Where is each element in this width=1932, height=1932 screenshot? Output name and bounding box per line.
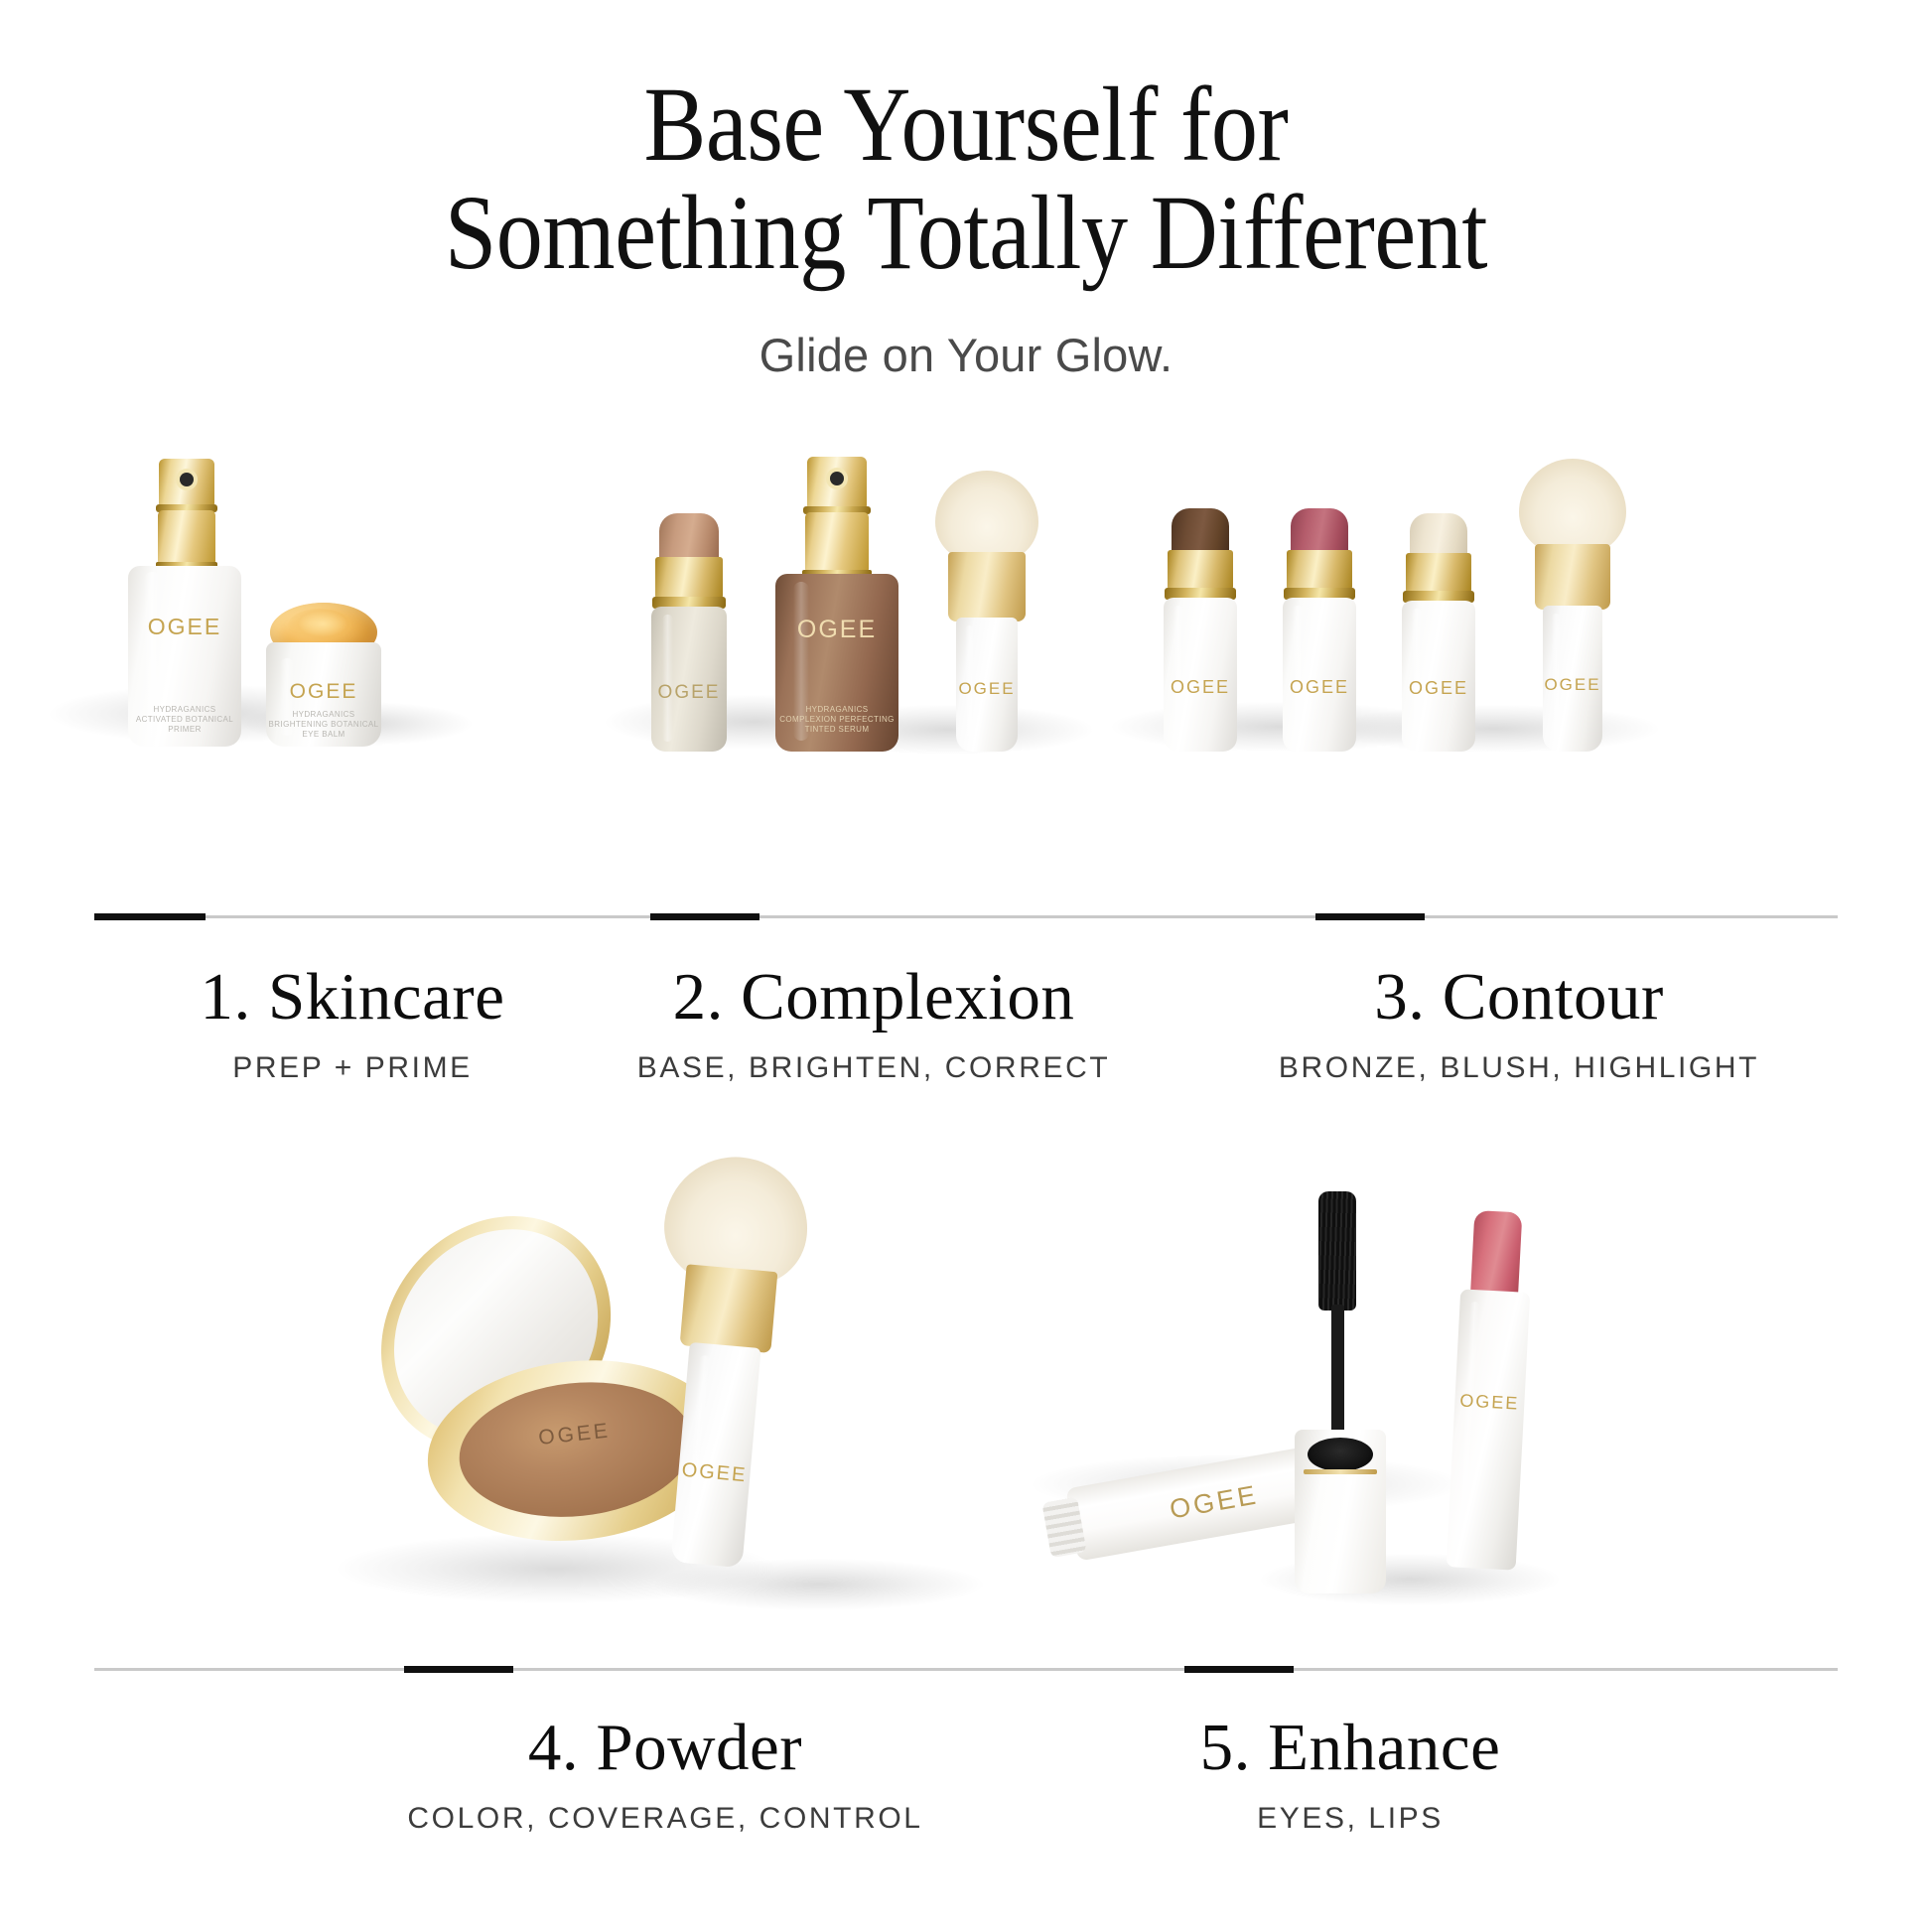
section-5-products: OGEE OGEE xyxy=(1072,1157,1628,1648)
brand-label: OGEE xyxy=(1454,1390,1525,1415)
product-fineprint: HYDRAGANICS COMPLEXION PERFECTING TINTED… xyxy=(775,705,898,735)
section-title-enhance: 5. Enhance xyxy=(1072,1710,1628,1786)
product-highlight-stick[interactable]: OGEE xyxy=(1388,513,1497,752)
rule-accent-section-5 xyxy=(1184,1666,1294,1673)
gold-ring xyxy=(1304,1469,1377,1474)
product-powder-brush[interactable]: OGEE xyxy=(622,1150,827,1580)
section-title-skincare: 1. Skincare xyxy=(94,959,611,1035)
section-1-products: OGEE HYDRAGANICS ACTIVATED BOTANICAL PRI… xyxy=(60,449,576,915)
gold-cap xyxy=(158,510,215,566)
fineprint-line-2: COMPLEXION PERFECTING xyxy=(775,715,898,725)
highlight-gloss xyxy=(1457,1302,1479,1536)
page-title: Base Yourself for Something Totally Diff… xyxy=(116,71,1816,288)
brand-label: OGEE xyxy=(678,1458,752,1487)
section-subtitle-skincare: PREP + PRIME xyxy=(94,1051,611,1085)
section-title-complexion: 2. Complexion xyxy=(596,959,1152,1035)
brand-label: OGEE xyxy=(956,679,1018,699)
brand-label: OGEE xyxy=(1543,675,1602,695)
product-lip-crayon[interactable]: OGEE xyxy=(1411,1208,1569,1573)
brush-ferrule xyxy=(948,552,1026,621)
highlight-gloss xyxy=(684,1355,711,1539)
brush-bristles xyxy=(935,471,1038,562)
product-contour-brush[interactable]: OGEE xyxy=(1509,459,1638,752)
gold-collar xyxy=(655,557,723,599)
product-bronzer-stick[interactable]: OGEE xyxy=(1150,508,1259,752)
brush-ferrule xyxy=(680,1264,778,1353)
brand-label: OGEE xyxy=(775,616,898,644)
section-3-products: OGEE OGEE OGEE xyxy=(1142,449,1837,915)
gold-collar xyxy=(1287,550,1352,590)
highlight-gloss xyxy=(1293,606,1303,740)
bottle-body: OGEE HYDRAGANICS ACTIVATED BOTANICAL PRI… xyxy=(128,566,241,747)
product-concealer-stick[interactable]: OGEE xyxy=(635,513,745,752)
rule-accent-section-4 xyxy=(404,1666,513,1673)
balm-swirl xyxy=(288,609,351,642)
brush-handle: OGEE xyxy=(671,1342,761,1568)
brush-handle: OGEE xyxy=(956,618,1018,752)
brush-handle: OGEE xyxy=(1543,606,1602,752)
section-2-products: OGEE OGEE HYDRAGANICS COMPLEXION PERFECT… xyxy=(596,449,1122,915)
section-title-powder: 4. Powder xyxy=(357,1710,973,1786)
stick-body: OGEE xyxy=(1402,601,1475,752)
section-4-products: OGEE OGEE xyxy=(357,1157,973,1648)
section-title-contour: 3. Contour xyxy=(1211,959,1827,1035)
pump-hole xyxy=(830,472,844,485)
section-subtitle-powder: COLOR, COVERAGE, CONTROL xyxy=(357,1802,973,1836)
mascara-brush-head xyxy=(1318,1191,1356,1311)
rule-accent-section-1 xyxy=(94,913,206,920)
stick-body: OGEE xyxy=(1164,598,1237,752)
brand-label: OGEE xyxy=(1283,677,1356,698)
fineprint-line-1: HYDRAGANICS xyxy=(266,710,381,720)
section-subtitle-contour: BRONZE, BLUSH, HIGHLIGHT xyxy=(1211,1051,1827,1085)
stick-tip-bronzer xyxy=(1172,508,1229,556)
section-subtitle-complexion: BASE, BRIGHTEN, CORRECT xyxy=(596,1051,1152,1085)
lip-crayon-body: OGEE xyxy=(1447,1289,1531,1570)
brand-label: OGEE xyxy=(266,680,381,704)
headline-line-1: Base Yourself for xyxy=(116,71,1816,180)
fineprint-line-3: TINTED SERUM xyxy=(775,725,898,735)
pump-nozzle xyxy=(807,457,867,508)
section-label-5: 5. Enhance EYES, LIPS xyxy=(1072,1710,1628,1836)
fineprint-line-2: BRIGHTENING BOTANICAL xyxy=(266,720,381,730)
section-label-2: 2. Complexion BASE, BRIGHTEN, CORRECT xyxy=(596,959,1152,1085)
pump-nozzle xyxy=(159,459,214,506)
product-complexion-brush[interactable]: OGEE xyxy=(923,471,1052,752)
stick-body: OGEE xyxy=(1283,598,1356,752)
product-fineprint: HYDRAGANICS BRIGHTENING BOTANICAL EYE BA… xyxy=(266,710,381,740)
divider-rule-top xyxy=(94,915,1838,918)
stick-tip-concealer xyxy=(659,513,719,563)
fineprint-line-3: PRIMER xyxy=(128,725,241,735)
stick-body: OGEE xyxy=(651,607,727,752)
product-fineprint: HYDRAGANICS ACTIVATED BOTANICAL PRIMER xyxy=(128,705,241,735)
product-row-bottom: OGEE OGEE OGEE xyxy=(0,1157,1932,1648)
serum-bottle-body: OGEE HYDRAGANICS COMPLEXION PERFECTING T… xyxy=(775,574,898,752)
product-blush-stick[interactable]: OGEE xyxy=(1269,508,1378,752)
fineprint-line-1: HYDRAGANICS xyxy=(775,705,898,715)
gold-cap xyxy=(805,512,869,574)
pump-hole xyxy=(180,473,194,486)
highlight-gloss xyxy=(1173,606,1183,740)
fineprint-line-1: HYDRAGANICS xyxy=(128,705,241,715)
page-subtitle: Glide on Your Glow. xyxy=(0,328,1932,382)
brand-label: OGEE xyxy=(1164,677,1237,698)
brush-ferrule xyxy=(1535,544,1610,610)
stick-tip-blush xyxy=(1291,508,1348,556)
product-row-top: OGEE HYDRAGANICS ACTIVATED BOTANICAL PRI… xyxy=(0,449,1932,915)
product-primer-bottle[interactable]: OGEE HYDRAGANICS ACTIVATED BOTANICAL PRI… xyxy=(114,449,253,747)
brand-label: OGEE xyxy=(651,682,727,704)
lip-crayon-bullet xyxy=(1470,1210,1522,1298)
jar-body: OGEE HYDRAGANICS BRIGHTENING BOTANICAL E… xyxy=(266,642,381,747)
section-subtitle-enhance: EYES, LIPS xyxy=(1072,1802,1628,1836)
section-label-1: 1. Skincare PREP + PRIME xyxy=(94,959,611,1085)
section-label-4: 4. Powder COLOR, COVERAGE, CONTROL xyxy=(357,1710,973,1836)
headline-line-2: Something Totally Different xyxy=(116,180,1816,288)
highlight-gloss xyxy=(1412,609,1422,740)
rule-accent-section-2 xyxy=(650,913,759,920)
brand-label: OGEE xyxy=(128,614,241,640)
product-tinted-serum[interactable]: OGEE HYDRAGANICS COMPLEXION PERFECTING T… xyxy=(759,449,918,752)
brush-bristles xyxy=(1519,459,1626,554)
rule-accent-section-3 xyxy=(1315,913,1425,920)
poster-canvas: Base Yourself for Something Totally Diff… xyxy=(0,0,1932,1932)
product-eye-balm-jar[interactable]: OGEE HYDRAGANICS BRIGHTENING BOTANICAL E… xyxy=(258,603,397,747)
poster-header: Base Yourself for Something Totally Diff… xyxy=(0,0,1932,382)
highlight-gloss xyxy=(662,615,673,742)
brand-label: OGEE xyxy=(1402,678,1475,699)
fineprint-line-3: EYE BALM xyxy=(266,730,381,740)
mascara-cap-opening xyxy=(1308,1438,1373,1471)
divider-rule-bottom xyxy=(94,1668,1838,1671)
fineprint-line-2: ACTIVATED BOTANICAL xyxy=(128,715,241,725)
gold-collar xyxy=(1406,553,1471,593)
section-label-3: 3. Contour BRONZE, BLUSH, HIGHLIGHT xyxy=(1211,959,1827,1085)
mascara-cap xyxy=(1295,1430,1386,1593)
gold-collar xyxy=(1168,550,1233,590)
